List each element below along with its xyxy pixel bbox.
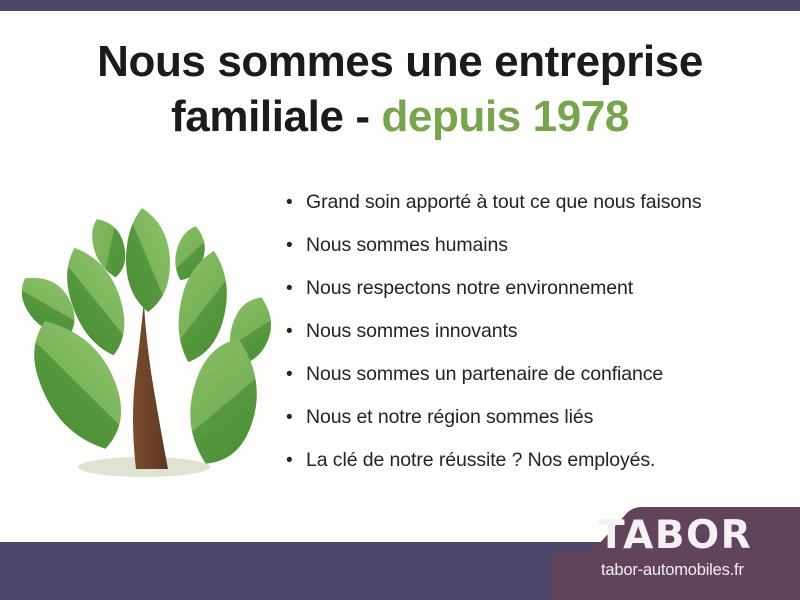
title-line-2: familiale - depuis 1978 [0,89,800,144]
title-accent-text: depuis 1978 [381,92,629,141]
logo-wordmark: TABOR [598,513,752,558]
title-line-1: Nous sommes une entreprise [0,34,800,89]
list-item-label: La clé de notre réussite ? Nos employés. [306,449,655,472]
bullet-icon: • [286,451,306,470]
list-item: • Nous sommes humains [286,234,766,277]
bullet-icon: • [286,279,306,298]
tree-illustration [18,186,282,486]
list-item: • Grand soin apporté à tout ce que nous … [286,191,766,234]
list-item: • Nous sommes innovants [286,320,766,363]
logo-tagline: tabor-automobiles.fr [601,561,744,580]
list-item-label: Nous sommes innovants [306,320,517,343]
list-item: • Nous sommes un partenaire de confiance [286,363,766,406]
top-accent-band [0,0,800,11]
title-line-2-prefix: familiale [171,92,344,141]
list-item-label: Nous sommes un partenaire de confiance [306,363,663,386]
slide-canvas: Nous sommes une entreprise familiale - d… [0,0,800,600]
list-item-label: Grand soin apporté à tout ce que nous fa… [306,191,702,214]
bullet-icon: • [286,193,306,212]
tree-icon [18,186,282,486]
list-item-label: Nous sommes humains [306,234,508,257]
bullet-icon: • [286,236,306,255]
list-item: • Nous et notre région sommes liés [286,406,766,449]
tree-trunk [133,301,168,469]
page-title: Nous sommes une entreprise familiale - d… [0,34,800,145]
bullet-icon: • [286,322,306,341]
brand-logo[interactable]: TABOR tabor-automobiles.fr [552,505,800,600]
list-item: • La clé de notre réussite ? Nos employé… [286,449,766,492]
title-dash: - [355,92,369,141]
bullet-icon: • [286,365,306,384]
list-item-label: Nous et notre région sommes liés [306,406,593,429]
list-item-label: Nous respectons notre environnement [306,277,633,300]
bullet-list: • Grand soin apporté à tout ce que nous … [286,191,766,492]
list-item: • Nous respectons notre environnement [286,277,766,320]
logo-text-group: TABOR tabor-automobiles.fr [552,505,800,600]
bullet-icon: • [286,408,306,427]
